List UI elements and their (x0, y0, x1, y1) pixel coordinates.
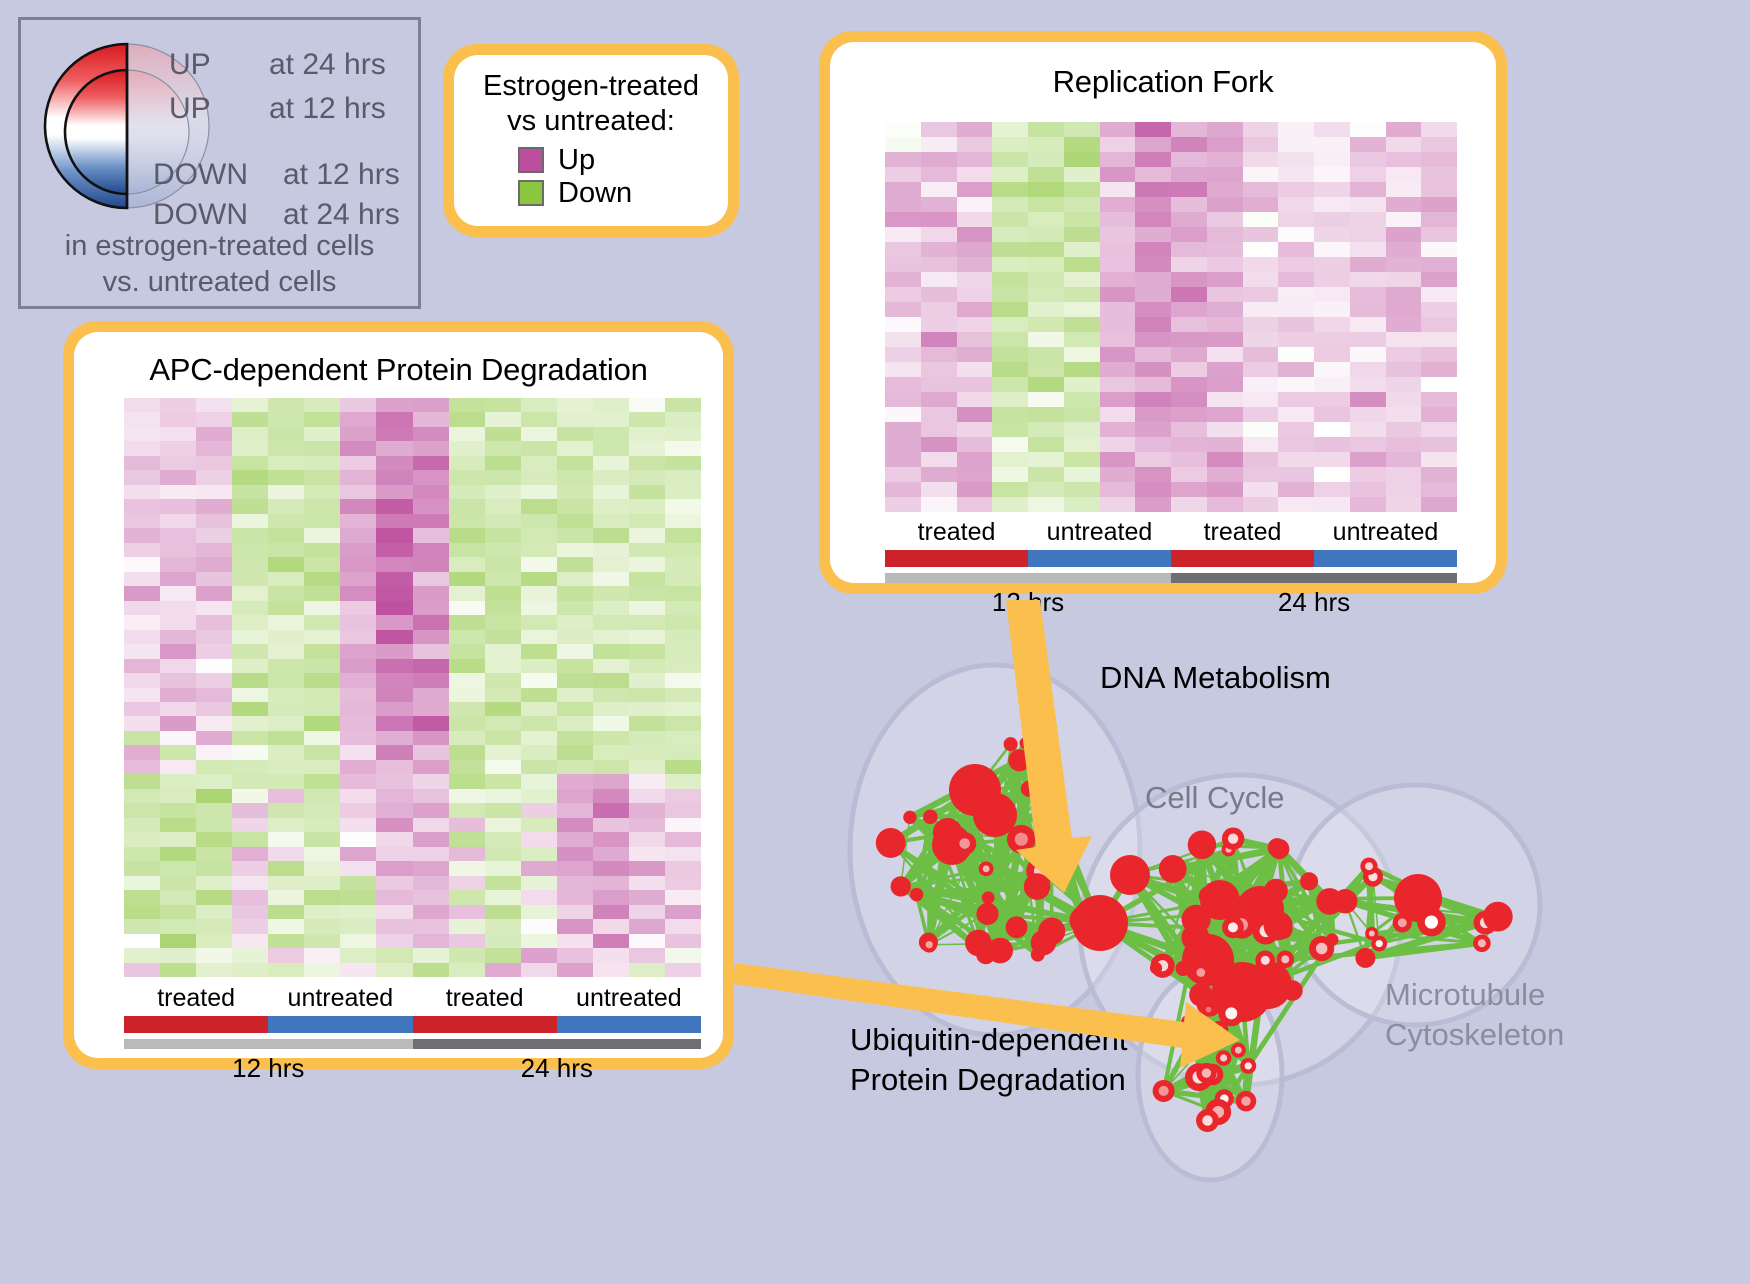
heatmap-cell (124, 398, 160, 412)
heatmap-cell (957, 467, 993, 482)
heatmap-cell (449, 702, 485, 716)
heatmap-cell (160, 499, 196, 513)
network-node[interactable] (1159, 855, 1187, 883)
network-node[interactable] (923, 810, 938, 825)
heatmap-cell (593, 963, 629, 977)
heatmap-cell (1386, 182, 1422, 197)
heatmap-cell (413, 919, 449, 933)
network-node[interactable] (1264, 879, 1288, 903)
heatmap-cell (885, 497, 921, 512)
heatmap-cell (1278, 167, 1314, 182)
heatmap-cell (665, 659, 701, 673)
heatmap-cell (124, 948, 160, 962)
heatmap-cell (340, 427, 376, 441)
heatmap-cell (160, 803, 196, 817)
heatmap-cell (160, 861, 196, 875)
heatmap-cell (521, 456, 557, 470)
heatmap-cell (665, 861, 701, 875)
heatmap-cell (629, 659, 665, 673)
heatmap-cell (1314, 212, 1350, 227)
heatmap-cell (665, 774, 701, 788)
heatmap-cell (1350, 212, 1386, 227)
heatmap-cell (196, 774, 232, 788)
heatmap-cell (268, 427, 304, 441)
legend-swatch-up-icon (518, 147, 544, 173)
heatmap-cell (449, 745, 485, 759)
heatmap-cell (232, 441, 268, 455)
apc-group-label: treated (124, 984, 268, 1013)
heatmap-cell (304, 963, 340, 977)
heatmap-cell (340, 876, 376, 890)
heatmap-cell (992, 257, 1028, 272)
heatmap-cell (629, 485, 665, 499)
heatmap-cell (1028, 362, 1064, 377)
heatmap-cell (665, 847, 701, 861)
heatmap-cell (485, 456, 521, 470)
heatmap-cell (593, 601, 629, 615)
heatmap-cell (1100, 467, 1136, 482)
apc-axis: treated untreated treated untreated 12 h (124, 984, 701, 1084)
heatmap-cell (1100, 422, 1136, 437)
heatmap-cell (1207, 392, 1243, 407)
heatmap-cell (268, 673, 304, 687)
network-node[interactable] (1072, 895, 1128, 951)
heatmap-cell (1171, 182, 1207, 197)
heatmap-cell (1350, 362, 1386, 377)
heatmap-cell (268, 543, 304, 557)
heatmap-cell (268, 818, 304, 832)
heatmap-cell (413, 514, 449, 528)
heatmap-cell (340, 601, 376, 615)
heatmap-cell (124, 688, 160, 702)
heatmap-cell (1207, 257, 1243, 272)
heatmap-cell (376, 948, 412, 962)
heatmap-cell (1350, 392, 1386, 407)
heatmap-cell (413, 441, 449, 455)
heatmap-cell (1243, 437, 1279, 452)
heatmap-cell (521, 630, 557, 644)
heatmap-cell (1028, 392, 1064, 407)
heatmap-cell (340, 832, 376, 846)
heatmap-cell (268, 398, 304, 412)
heatmap-cell (557, 659, 593, 673)
network-node[interactable] (1020, 737, 1032, 749)
heatmap-cell (1207, 272, 1243, 287)
heatmap-cell (1386, 407, 1422, 422)
network-node[interactable] (982, 891, 995, 904)
network-cluster-label-cell-cycle: Cell Cycle (1145, 780, 1285, 816)
heatmap-cell (196, 702, 232, 716)
heatmap-cell (232, 716, 268, 730)
heatmap-cell (485, 789, 521, 803)
heatmap-cell (1028, 152, 1064, 167)
replication-fork-title: Replication Fork (830, 42, 1496, 100)
heatmap-cell (124, 774, 160, 788)
heatmap-cell (160, 543, 196, 557)
heatmap-cell (340, 861, 376, 875)
heatmap-cell (1243, 302, 1279, 317)
color-key-footer-line2: vs. untreated cells (21, 264, 418, 300)
heatmap-cell (629, 861, 665, 875)
heatmap-cell (921, 257, 957, 272)
heatmap-cell (124, 702, 160, 716)
heatmap-cell (340, 948, 376, 962)
heatmap-cell (1314, 182, 1350, 197)
heatmap-cell (885, 287, 921, 302)
network-node[interactable] (1188, 831, 1216, 859)
rf-group-label: untreated (1314, 518, 1457, 547)
apc-group-label: treated (413, 984, 557, 1013)
network-node[interactable] (1326, 933, 1339, 946)
heatmap-cell (992, 332, 1028, 347)
heatmap-cell (1100, 347, 1136, 362)
heatmap-cell (1278, 287, 1314, 302)
network-node-center (1159, 1086, 1169, 1096)
network-node[interactable] (891, 876, 911, 896)
heatmap-cell (1386, 497, 1422, 512)
network-node[interactable] (1024, 873, 1051, 900)
network-node-center (1376, 940, 1383, 947)
heatmap-cell (196, 716, 232, 730)
heatmap-cell (232, 557, 268, 571)
heatmap-cell (304, 847, 340, 861)
heatmap-cell (1314, 407, 1350, 422)
heatmap-cell (992, 227, 1028, 242)
heatmap-cell (304, 919, 340, 933)
heatmap-cell (665, 673, 701, 687)
heatmap-cell (449, 688, 485, 702)
heatmap-cell (449, 470, 485, 484)
heatmap-cell (557, 470, 593, 484)
heatmap-cell (1243, 182, 1279, 197)
heatmap-cell (1421, 437, 1457, 452)
heatmap-cell (413, 847, 449, 861)
heatmap-cell (665, 803, 701, 817)
heatmap-cell (957, 167, 993, 182)
heatmap-cell (160, 659, 196, 673)
heatmap-cell (1171, 407, 1207, 422)
heatmap-cell (557, 789, 593, 803)
heatmap-cell (485, 485, 521, 499)
heatmap-cell (1064, 287, 1100, 302)
heatmap-cell (232, 934, 268, 948)
heatmap-cell (1386, 212, 1422, 227)
heatmap-cell (1350, 437, 1386, 452)
network-node[interactable] (976, 903, 998, 925)
heatmap-cell (1386, 467, 1422, 482)
network-node[interactable] (933, 818, 962, 847)
network-node[interactable] (1483, 902, 1513, 932)
heatmap-cell (992, 497, 1028, 512)
heatmap-cell (160, 427, 196, 441)
heatmap-cell (485, 745, 521, 759)
heatmap-cell (376, 557, 412, 571)
network-node[interactable] (952, 790, 969, 807)
heatmap-cell (413, 456, 449, 470)
replication-fork-heatmap (885, 122, 1457, 512)
heatmap-cell (1135, 332, 1171, 347)
heatmap-cell (1314, 362, 1350, 377)
heatmap-cell (1314, 227, 1350, 242)
heatmap-cell (449, 528, 485, 542)
network-node[interactable] (976, 945, 995, 964)
legend-item-down: Down (518, 178, 728, 208)
network-node[interactable] (1355, 948, 1375, 968)
heatmap-cell (629, 832, 665, 846)
heatmap-cell (992, 377, 1028, 392)
heatmap-cell (160, 760, 196, 774)
heatmap-cell (992, 182, 1028, 197)
heatmap-cell (449, 485, 485, 499)
heatmap-cell (885, 377, 921, 392)
heatmap-cell (1278, 122, 1314, 137)
heatmap-cell (340, 499, 376, 513)
heatmap-cell (1243, 317, 1279, 332)
heatmap-cell (921, 497, 957, 512)
heatmap-cell (665, 586, 701, 600)
heatmap-cell (1350, 317, 1386, 332)
heatmap-cell (557, 572, 593, 586)
heatmap-cell (1028, 377, 1064, 392)
heatmap-cell (1421, 377, 1457, 392)
heatmap-cell (992, 452, 1028, 467)
heatmap-cell (1135, 392, 1171, 407)
heatmap-cell (521, 470, 557, 484)
heatmap-cell (485, 948, 521, 962)
heatmap-cell (1171, 122, 1207, 137)
network-node-center (1261, 956, 1270, 965)
heatmap-cell (557, 615, 593, 629)
heatmap-cell (1064, 332, 1100, 347)
heatmap-cell (160, 774, 196, 788)
network-node-center (1398, 918, 1407, 927)
rf-axis-group-labels: treated untreated treated untreated (885, 518, 1457, 547)
heatmap-cell (521, 774, 557, 788)
heatmap-cell (304, 861, 340, 875)
heatmap-cell (1314, 347, 1350, 362)
heatmap-cell (376, 615, 412, 629)
heatmap-cell (557, 731, 593, 745)
heatmap-cell (232, 847, 268, 861)
heatmap-cell (1243, 272, 1279, 287)
heatmap-cell (485, 412, 521, 426)
heatmap-cell (521, 789, 557, 803)
heatmap-cell (665, 456, 701, 470)
heatmap-cell (1421, 212, 1457, 227)
heatmap-cell (413, 702, 449, 716)
heatmap-cell (1421, 392, 1457, 407)
heatmap-cell (1207, 482, 1243, 497)
heatmap-cell (1171, 482, 1207, 497)
heatmap-cell (1421, 317, 1457, 332)
network-node[interactable] (1008, 749, 1030, 771)
heatmap-cell (485, 586, 521, 600)
heatmap-cell (1421, 257, 1457, 272)
heatmap-cell (304, 702, 340, 716)
heatmap-cell (1100, 242, 1136, 257)
heatmap-cell (921, 362, 957, 377)
heatmap-cell (413, 557, 449, 571)
heatmap-cell (449, 673, 485, 687)
heatmap-cell (340, 528, 376, 542)
heatmap-cell (665, 485, 701, 499)
heatmap-cell (160, 948, 196, 962)
heatmap-cell (521, 412, 557, 426)
heatmap-cell (413, 659, 449, 673)
heatmap-cell (1421, 182, 1457, 197)
heatmap-cell (376, 586, 412, 600)
heatmap-cell (593, 702, 629, 716)
network-node[interactable] (1004, 737, 1018, 751)
heatmap-cell (1135, 167, 1171, 182)
network-node[interactable] (1182, 905, 1211, 934)
heatmap-cell (1421, 332, 1457, 347)
network-node[interactable] (1282, 980, 1303, 1001)
network-node-center (1281, 955, 1289, 963)
heatmap-cell (665, 832, 701, 846)
heatmap-cell (921, 152, 957, 167)
heatmap-cell (629, 514, 665, 528)
heatmap-cell (124, 905, 160, 919)
heatmap-cell (196, 789, 232, 803)
heatmap-cell (449, 659, 485, 673)
heatmap-cell (196, 731, 232, 745)
heatmap-cell (268, 905, 304, 919)
heatmap-cell (413, 470, 449, 484)
heatmap-cell (1135, 497, 1171, 512)
heatmap-cell (593, 615, 629, 629)
heatmap-cell (160, 673, 196, 687)
heatmap-cell (1207, 437, 1243, 452)
heatmap-cell (1064, 437, 1100, 452)
heatmap-cell (957, 392, 993, 407)
heatmap-cell (1278, 437, 1314, 452)
heatmap-cell (521, 832, 557, 846)
heatmap-cell (957, 347, 993, 362)
heatmap-cell (340, 803, 376, 817)
heatmap-cell (629, 688, 665, 702)
heatmap-cell (1100, 227, 1136, 242)
heatmap-cell (629, 398, 665, 412)
heatmap-cell (485, 659, 521, 673)
heatmap-cell (629, 789, 665, 803)
apc-time-label-24: 24 hrs (413, 1053, 702, 1084)
network-node[interactable] (1333, 889, 1357, 913)
heatmap-cell (921, 137, 957, 152)
heatmap-cell (376, 745, 412, 759)
heatmap-cell (1350, 137, 1386, 152)
heatmap-cell (557, 557, 593, 571)
heatmap-cell (885, 272, 921, 287)
network-node[interactable] (1199, 886, 1219, 906)
heatmap-cell (992, 272, 1028, 287)
heatmap-cell (160, 731, 196, 745)
heatmap-cell (124, 572, 160, 586)
heatmap-cell (340, 934, 376, 948)
heatmap-cell (1386, 362, 1422, 377)
network-cluster-label-dna-metabolism: DNA Metabolism (1100, 660, 1331, 696)
heatmap-cell (196, 659, 232, 673)
network-node[interactable] (1006, 916, 1028, 938)
heatmap-cell (1028, 257, 1064, 272)
network-node[interactable] (903, 811, 916, 824)
heatmap-cell (885, 452, 921, 467)
heatmap-cell (1171, 347, 1207, 362)
heatmap-cell (1135, 227, 1171, 242)
heatmap-cell (1243, 392, 1279, 407)
heatmap-cell (124, 644, 160, 658)
network-node[interactable] (1110, 855, 1150, 895)
heatmap-cell (232, 412, 268, 426)
heatmap-cell (1100, 197, 1136, 212)
heatmap-cell (449, 644, 485, 658)
heatmap-cell (268, 934, 304, 948)
network-node[interactable] (1264, 911, 1293, 940)
heatmap-cell (376, 789, 412, 803)
heatmap-cell (557, 456, 593, 470)
heatmap-cell (485, 427, 521, 441)
network-node[interactable] (1300, 872, 1318, 890)
heatmap-cell (1386, 422, 1422, 437)
heatmap-cell (665, 760, 701, 774)
heatmap-cell (232, 673, 268, 687)
heatmap-cell (1028, 167, 1064, 182)
heatmap-cell (485, 615, 521, 629)
network-node[interactable] (876, 828, 906, 858)
heatmap-cell (340, 485, 376, 499)
heatmap-cell (160, 919, 196, 933)
heatmap-cell (196, 601, 232, 615)
heatmap-cell (1350, 332, 1386, 347)
heatmap-cell (957, 497, 993, 512)
heatmap-cell (304, 499, 340, 513)
heatmap-cell (557, 499, 593, 513)
network-node[interactable] (1150, 962, 1162, 974)
heatmap-cell (340, 919, 376, 933)
heatmap-cell (521, 876, 557, 890)
heatmap-cell (304, 716, 340, 730)
heatmap-cell (557, 861, 593, 875)
network-node[interactable] (1031, 930, 1056, 955)
heatmap-cell (1207, 137, 1243, 152)
heatmap-cell (196, 615, 232, 629)
network-node[interactable] (1269, 839, 1289, 859)
heatmap-cell (304, 789, 340, 803)
network-node[interactable] (1021, 781, 1037, 797)
heatmap-cell (665, 543, 701, 557)
heatmap-cell (665, 499, 701, 513)
heatmap-cell (413, 934, 449, 948)
heatmap-cell (1100, 287, 1136, 302)
heatmap-cell (340, 644, 376, 658)
heatmap-cell (340, 586, 376, 600)
network-node[interactable] (1039, 779, 1053, 793)
heatmap-cell (268, 514, 304, 528)
heatmap-cell (124, 731, 160, 745)
heatmap-cell (521, 427, 557, 441)
heatmap-cell (557, 876, 593, 890)
heatmap-cell (485, 688, 521, 702)
network-node[interactable] (1242, 896, 1263, 917)
heatmap-cell (376, 832, 412, 846)
heatmap-cell (376, 470, 412, 484)
heatmap-cell (1064, 242, 1100, 257)
heatmap-cell (376, 861, 412, 875)
network-node[interactable] (910, 888, 923, 901)
network-node[interactable] (1175, 961, 1190, 976)
color-key-time-up24: at 24 hrs (269, 48, 386, 82)
heatmap-cell (1064, 497, 1100, 512)
